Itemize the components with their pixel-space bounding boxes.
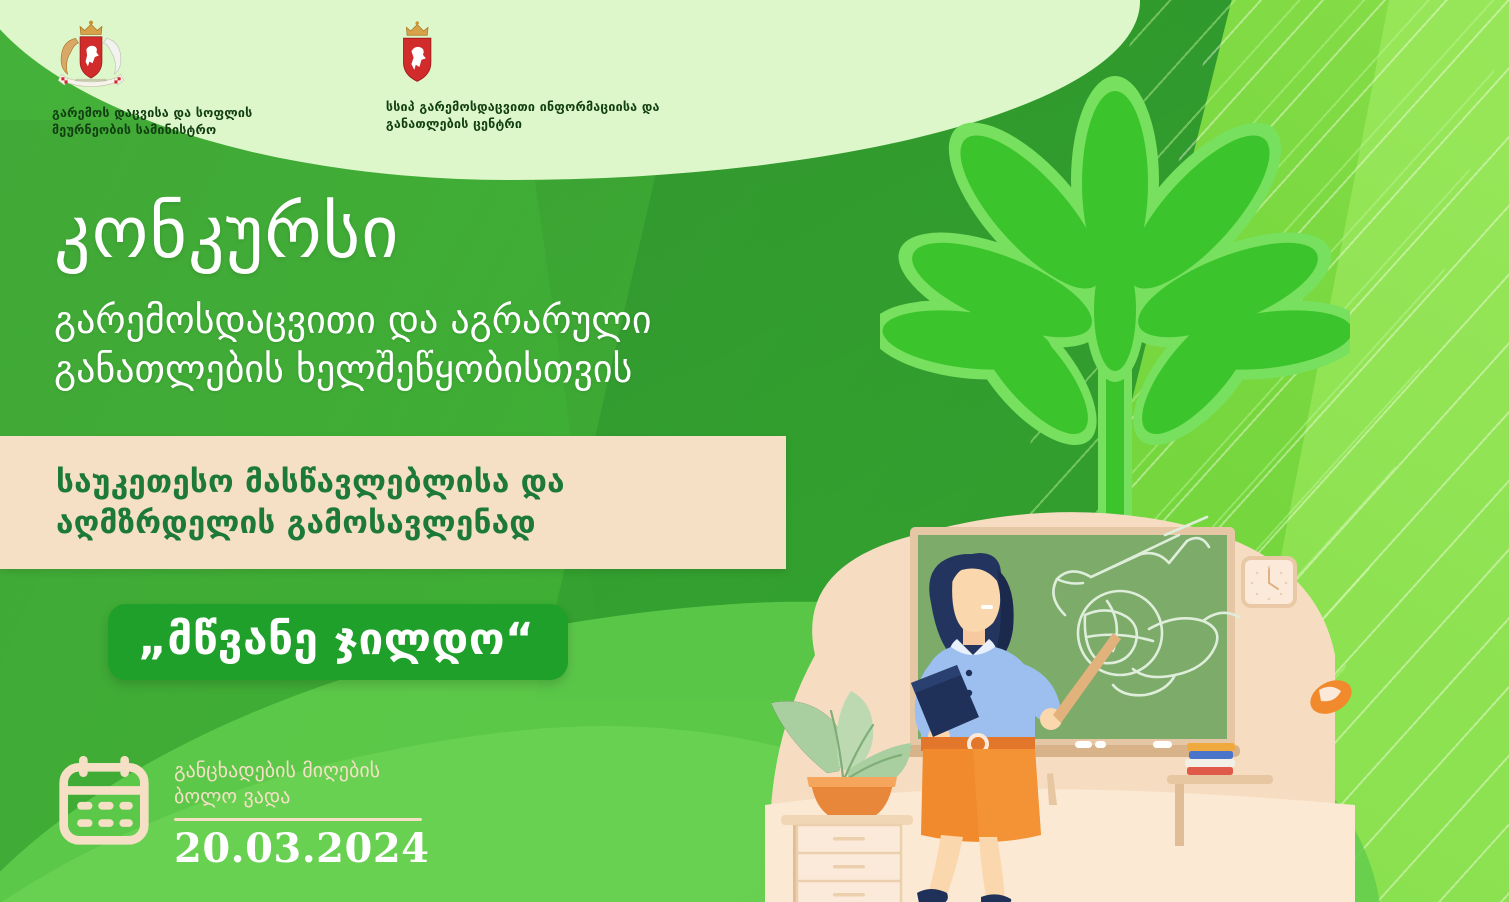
table-leg	[1175, 784, 1184, 846]
logo-ministry-caption: გარემოს დაცვისა და სოფლის მეურნეობის სამ…	[52, 104, 332, 139]
chalk-piece	[1075, 741, 1092, 748]
logo-center: სსიპ გარემოსდაცვითი ინფორმაციისა და განა…	[386, 18, 700, 150]
subtitle-line-1: გარემოსდაცვითი და აგრარული	[54, 296, 814, 345]
teacher-skirt-highlight	[973, 749, 1041, 841]
award-name-label: „მწვანე ჯილდო“	[138, 617, 534, 663]
classroom-teacher-illustration	[735, 505, 1355, 902]
page-title: კონკურსი	[54, 196, 814, 268]
deadline-divider	[174, 818, 422, 821]
deadline-label-line-2: ბოლო ვადა	[174, 784, 430, 810]
teacher-face	[952, 569, 1000, 632]
banner-line-2: აღმზრდელის გამოსავლენად	[56, 503, 786, 544]
headline-block: კონკურსი გარემოსდაცვითი და აგრარული განა…	[54, 196, 814, 393]
chalk-piece	[1095, 741, 1106, 748]
georgia-coat-of-arms-icon	[52, 18, 130, 96]
wall-clock	[1243, 558, 1295, 606]
teacher-belt	[921, 737, 1035, 751]
table-top	[1167, 775, 1273, 784]
subtitle-line-2: განათლების ხელშეწყობისთვის	[54, 345, 814, 394]
logo-ministry: გარემოს დაცვისა და სოფლის მეურნეობის სამ…	[52, 18, 332, 150]
cabinet-top	[781, 815, 913, 825]
banner-line-1: საუკეთესო მასწავლებლისა და	[56, 462, 786, 503]
calendar-icon	[56, 752, 152, 848]
deadline-label-line-1: განცხადების მიღების	[174, 758, 430, 784]
teacher-smile	[981, 605, 993, 609]
red-shield-crown-emblem-icon	[392, 18, 442, 90]
chalk-piece	[1153, 741, 1172, 748]
poster-root: გარემოს დაცვისა და სოფლის მეურნეობის სამ…	[0, 0, 1509, 902]
logo-center-caption: სსიპ გარემოსდაცვითი ინფორმაციისა და განა…	[386, 98, 700, 133]
award-name-badge: „მწვანე ჯილდო“	[108, 604, 568, 680]
purpose-banner: საუკეთესო მასწავლებლისა და აღმზრდელის გა…	[0, 436, 786, 569]
deadline-text-group: განცხადების მიღების ბოლო ვადა 20.03.2024	[174, 752, 430, 872]
cabinet-body	[797, 825, 901, 902]
header-logos: გარემოს დაცვისა და სოფლის მეურნეობის სამ…	[0, 0, 700, 150]
deadline-block: განცხადების მიღების ბოლო ვადა 20.03.2024	[56, 752, 430, 872]
stylized-leaf-tree-icon	[880, 0, 1350, 570]
stacked-books-icon	[1185, 743, 1235, 775]
page-subtitle: გარემოსდაცვითი და აგრარული განათლების ხე…	[54, 296, 814, 393]
deadline-date: 20.03.2024	[174, 825, 430, 872]
